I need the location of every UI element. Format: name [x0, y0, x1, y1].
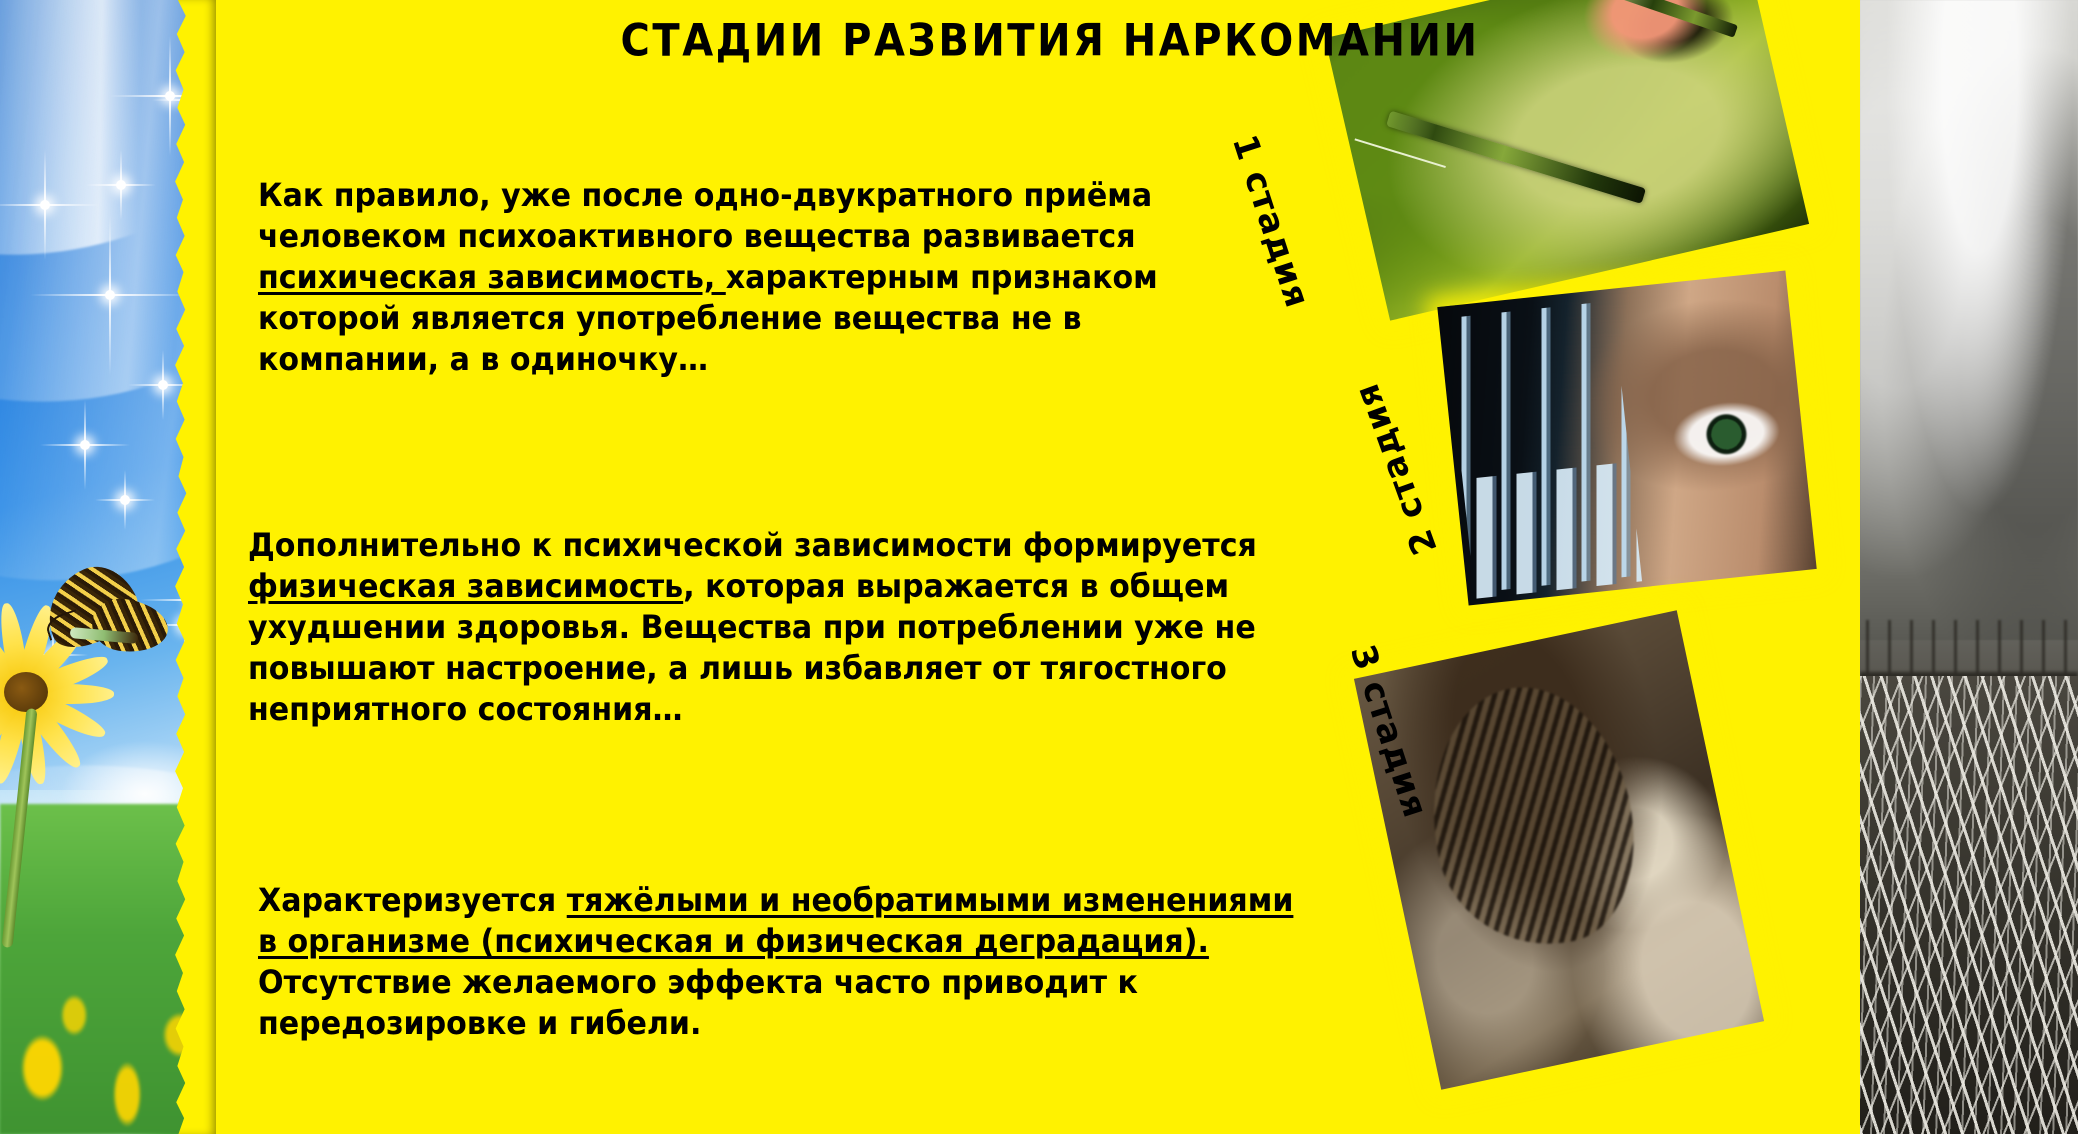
stage-3-run-1: Характеризуется: [258, 881, 567, 919]
stage-2-run-1: Дополнительно к психической зависимости …: [248, 526, 1257, 564]
stage-3-paragraph: Характеризуется тяжёлыми и необратимыми …: [258, 880, 1311, 1044]
dead-field: [1860, 676, 2078, 1134]
stage-1-paragraph: Как правило, уже после одно-двукратного …: [258, 175, 1264, 380]
stage-2-label: 2 стадия: [1347, 378, 1446, 560]
photo-stage-2: [1437, 271, 1816, 606]
photo-stage-3: [1354, 610, 1764, 1089]
butterfly-icon: [30, 570, 170, 665]
light-swoosh-icon: [0, 0, 212, 624]
slide-canvas: СТАДИИ РАЗВИТИЯ НАРКОМАНИИ Как правило, …: [0, 0, 2078, 1134]
stage-1-run-1: Как правило, уже после одно-двукратного …: [258, 176, 1152, 255]
syringe-barrels-icon: [1462, 462, 1642, 599]
stage-3-run-3: Отсутствие желаемого эффекта часто приво…: [258, 963, 1138, 1042]
stage-2-run-2-underlined: физическая зависимость: [248, 567, 683, 605]
storm-sky: [1860, 0, 2078, 640]
stage-1-run-2-underlined: психическая зависимость,: [258, 258, 726, 296]
stage-2-paragraph: Дополнительно к психической зависимости …: [248, 525, 1310, 730]
right-decorative-border: [1860, 0, 2078, 1134]
tree-line: [1860, 620, 2078, 680]
page-title: СТАДИИ РАЗВИТИЯ НАРКОМАНИИ: [620, 15, 1480, 67]
